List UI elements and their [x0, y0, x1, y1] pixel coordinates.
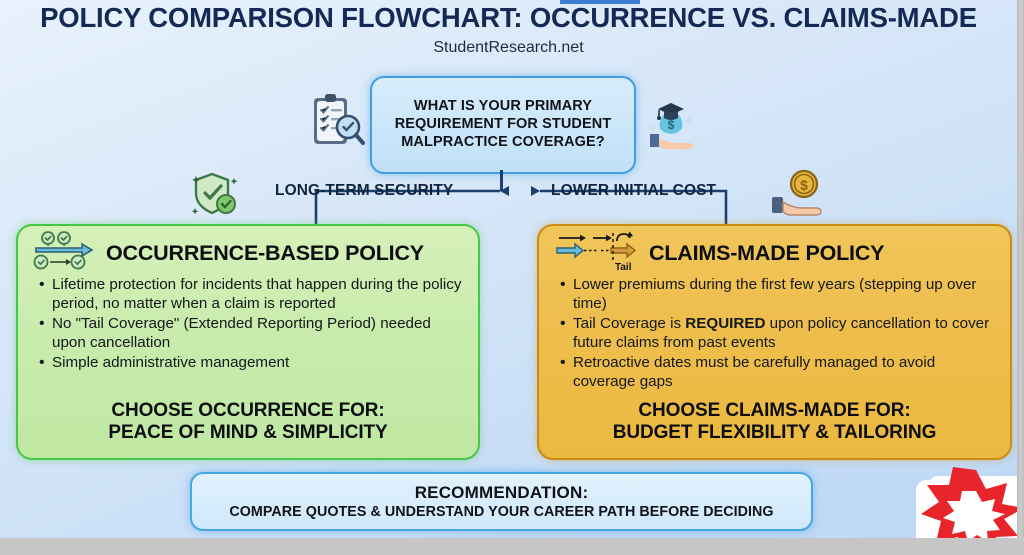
- occurrence-footer-line1: CHOOSE OCCURRENCE FOR:: [18, 400, 478, 422]
- list-item: Lifetime protection for incidents that h…: [52, 276, 466, 313]
- shield-check-icon: [186, 166, 244, 227]
- claims-made-card-footer: CHOOSE CLAIMS-MADE FOR: BUDGET FLEXIBILI…: [539, 400, 1010, 444]
- claims-made-bullet-list: Lower premiums during the first few year…: [539, 276, 1010, 391]
- claims-made-footer-line1: CHOOSE CLAIMS-MADE FOR:: [539, 400, 1010, 422]
- occurrence-bullet-list: Lifetime protection for incidents that h…: [18, 276, 478, 373]
- window-bottom-edge: [0, 538, 1024, 555]
- branch-label-long-term-security: LONG-TERM SECURITY: [275, 182, 453, 200]
- decision-question-text: WHAT IS YOUR PRIMARY REQUIREMENT FOR STU…: [372, 98, 634, 152]
- flowchart-canvas: POLICY COMPARISON FLOWCHART: OCCURRENCE …: [0, 0, 1024, 555]
- arrows-tail-coverage-icon: Tail: [553, 229, 639, 278]
- claims-made-card-header: Tail CLAIMS-MADE POLICY: [539, 226, 1010, 272]
- window-right-edge: [1017, 0, 1024, 555]
- list-item: Retroactive dates must be carefully mana…: [573, 354, 998, 391]
- page-title: POLICY COMPARISON FLOWCHART: OCCURRENCE …: [0, 2, 1017, 34]
- list-item: Lower premiums during the first few year…: [573, 276, 998, 313]
- list-item: No "Tail Coverage" (Extended Reporting P…: [52, 315, 466, 352]
- site-subtitle: StudentResearch.net: [0, 39, 1017, 57]
- clipboard-checklist-magnifier-icon: [298, 92, 370, 159]
- claims-made-card-title: CLAIMS-MADE POLICY: [649, 241, 884, 266]
- occurrence-card-header: OCCURRENCE-BASED POLICY: [18, 226, 478, 272]
- occurrence-policy-card: OCCURRENCE-BASED POLICY Lifetime protect…: [16, 224, 480, 460]
- tail-icon-label: Tail: [615, 262, 632, 273]
- svg-text:$: $: [800, 177, 808, 193]
- list-item: Tail Coverage is REQUIRED upon policy ca…: [573, 315, 998, 352]
- claims-made-footer-line2: BUDGET FLEXIBILITY & TAILORING: [539, 422, 1010, 444]
- occurrence-footer-line2: PEACE OF MIND & SIMPLICITY: [18, 422, 478, 444]
- occurrence-card-title: OCCURRENCE-BASED POLICY: [106, 241, 424, 266]
- branch-label-lower-initial-cost: LOWER INITIAL COST: [551, 182, 716, 200]
- claims-made-policy-card: Tail CLAIMS-MADE POLICY Lower premiums d…: [537, 224, 1012, 460]
- hand-holding-money-bag-graduation-cap-icon: $: [638, 96, 704, 159]
- decision-question-box: WHAT IS YOUR PRIMARY REQUIREMENT FOR STU…: [370, 76, 636, 174]
- occurrence-card-footer: CHOOSE OCCURRENCE FOR: PEACE OF MIND & S…: [18, 400, 478, 444]
- recommendation-box: RECOMMENDATION: COMPARE QUOTES & UNDERST…: [190, 472, 813, 531]
- recommendation-subtitle: COMPARE QUOTES & UNDERSTAND YOUR CAREER …: [229, 504, 773, 520]
- timeline-check-arrow-icon: [32, 231, 96, 276]
- svg-text:$: $: [668, 118, 675, 132]
- hand-holding-dollar-coin-icon: $: [768, 166, 830, 227]
- recommendation-title: RECOMMENDATION:: [415, 483, 589, 503]
- list-item: Simple administrative management: [52, 354, 466, 373]
